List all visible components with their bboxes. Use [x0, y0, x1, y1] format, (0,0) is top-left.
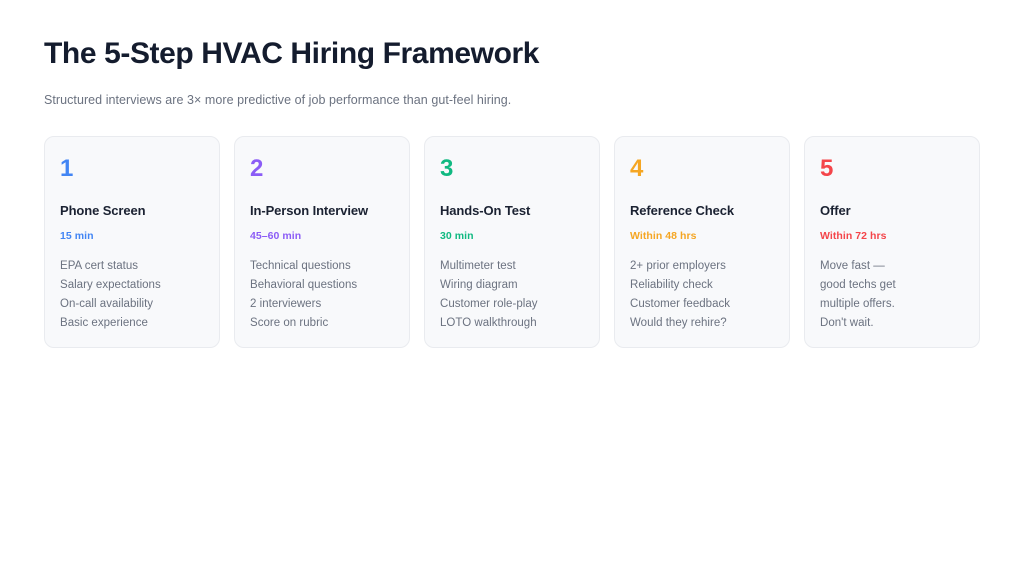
step-number-4: 4 [630, 156, 774, 182]
step-number-3: 3 [440, 156, 584, 182]
step-point: Would they rehire? [630, 314, 774, 333]
step-title-3: Hands-On Test [440, 203, 584, 219]
step-point: Basic experience [60, 314, 204, 333]
step-point: 2 interviewers [250, 295, 394, 314]
step-duration-2: 45–60 min [250, 230, 394, 243]
step-card-3[interactable]: 3 Hands-On Test 30 min Multimeter test W… [424, 136, 600, 348]
step-title-5: Offer [820, 203, 964, 219]
framework-page: The 5-Step HVAC Hiring Framework Structu… [0, 0, 1024, 576]
step-card-5[interactable]: 5 Offer Within 72 hrs Move fast — good t… [804, 136, 980, 348]
step-duration-5: Within 72 hrs [820, 230, 964, 243]
step-number-5: 5 [820, 156, 964, 182]
step-card-4[interactable]: 4 Reference Check Within 48 hrs 2+ prior… [614, 136, 790, 348]
step-point: On-call availability [60, 295, 204, 314]
step-point: 2+ prior employers [630, 257, 774, 276]
step-title-1: Phone Screen [60, 203, 204, 219]
step-point: Customer feedback [630, 295, 774, 314]
step-point: Don't wait. [820, 314, 964, 333]
step-number-2: 2 [250, 156, 394, 182]
step-points-2: Technical questions Behavioral questions… [250, 257, 394, 333]
step-point: Behavioral questions [250, 276, 394, 295]
step-point: multiple offers. [820, 295, 964, 314]
step-number-1: 1 [60, 156, 204, 182]
step-points-4: 2+ prior employers Reliability check Cus… [630, 257, 774, 333]
step-point: Technical questions [250, 257, 394, 276]
step-point: Score on rubric [250, 314, 394, 333]
step-duration-3: 30 min [440, 230, 584, 243]
step-card-2[interactable]: 2 In-Person Interview 45–60 min Technica… [234, 136, 410, 348]
step-point: Salary expectations [60, 276, 204, 295]
step-point: EPA cert status [60, 257, 204, 276]
step-points-5: Move fast — good techs get multiple offe… [820, 257, 964, 333]
step-title-4: Reference Check [630, 203, 774, 219]
step-duration-4: Within 48 hrs [630, 230, 774, 243]
step-points-1: EPA cert status Salary expectations On-c… [60, 257, 204, 333]
step-points-3: Multimeter test Wiring diagram Customer … [440, 257, 584, 333]
step-point: Customer role-play [440, 295, 584, 314]
step-point: Wiring diagram [440, 276, 584, 295]
step-point: Multimeter test [440, 257, 584, 276]
step-point: Reliability check [630, 276, 774, 295]
step-card-1[interactable]: 1 Phone Screen 15 min EPA cert status Sa… [44, 136, 220, 348]
step-point: good techs get [820, 276, 964, 295]
steps-row: 1 Phone Screen 15 min EPA cert status Sa… [44, 136, 980, 348]
page-subtitle: Structured interviews are 3× more predic… [44, 74, 980, 109]
step-point: LOTO walkthrough [440, 314, 584, 333]
page-title: The 5-Step HVAC Hiring Framework [44, 0, 980, 74]
step-point: Move fast — [820, 257, 964, 276]
step-duration-1: 15 min [60, 230, 204, 243]
step-title-2: In-Person Interview [250, 203, 394, 219]
